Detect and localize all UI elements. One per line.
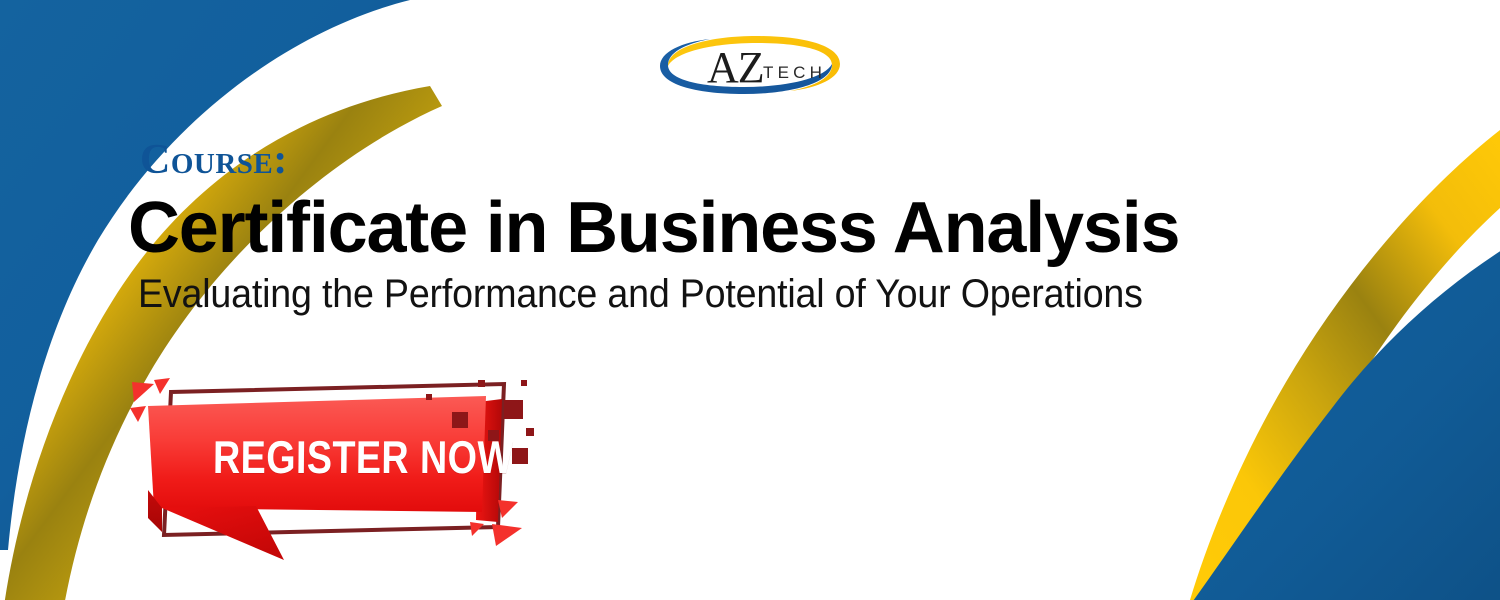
accent-square-6 xyxy=(512,448,528,464)
accent-triangle-left-2 xyxy=(154,378,170,394)
logo-container: AZ TECH xyxy=(0,34,1500,96)
logo-wordmark-tech: TECH xyxy=(763,63,826,82)
accent-square-8 xyxy=(488,430,499,441)
register-ribbon-graphic[interactable] xyxy=(126,372,536,562)
accent-triangle-left-3 xyxy=(130,406,146,422)
accent-square-7 xyxy=(426,394,432,400)
aztech-logo: AZ TECH xyxy=(650,34,850,96)
accent-square-2 xyxy=(478,380,485,387)
accent-square-1 xyxy=(452,412,468,428)
accent-square-3 xyxy=(504,400,523,419)
accent-triangle-left-1 xyxy=(132,382,154,402)
ribbon-body xyxy=(148,396,486,512)
accent-triangle-right-1 xyxy=(498,500,518,518)
course-title: Certificate in Business Analysis xyxy=(128,188,1448,268)
course-info: Course: Certificate in Business Analysis… xyxy=(128,136,1448,318)
accent-square-4 xyxy=(521,380,527,386)
accent-square-5 xyxy=(526,428,534,436)
course-promo-banner: AZ TECH Course: Certificate in Business … xyxy=(0,0,1500,600)
register-now-button[interactable]: REGISTER NOW xyxy=(126,372,536,562)
accent-triangle-right-2 xyxy=(492,524,522,546)
logo-wordmark-az: AZ xyxy=(707,43,764,92)
course-eyebrow-label: Course: xyxy=(140,136,1448,184)
course-subtitle: Evaluating the Performance and Potential… xyxy=(138,270,1369,318)
